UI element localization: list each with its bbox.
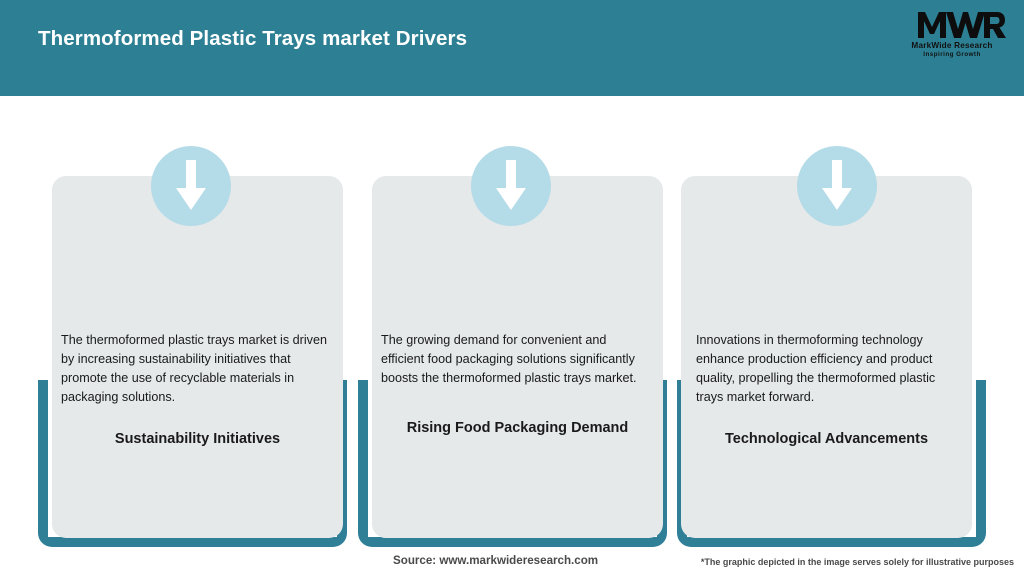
driver-card-body-3: Innovations in thermoforming technology …: [696, 331, 964, 407]
driver-card-body-2: The growing demand for convenient and ef…: [381, 331, 653, 388]
arrow-down-icon-1: [151, 146, 231, 226]
disclaimer-label: *The graphic depicted in the image serve…: [701, 557, 1014, 567]
arrow-down-glyph-2: [493, 160, 529, 212]
driver-card-title-3: Technological Advancements: [681, 428, 972, 450]
slide-canvas: Thermoformed Plastic Trays market Driver…: [0, 0, 1024, 576]
drivers-card-group: Sustainability Initiatives The thermofor…: [0, 0, 1024, 576]
driver-card-title-1: Sustainability Initiatives: [52, 428, 343, 450]
arrow-down-icon-2: [471, 146, 551, 226]
driver-card-body-1: The thermoformed plastic trays market is…: [61, 331, 333, 407]
arrow-down-icon-3: [797, 146, 877, 226]
source-label: Source: www.markwideresearch.com: [393, 554, 598, 567]
arrow-down-glyph-1: [173, 160, 209, 212]
driver-card-2[interactable]: Rising Food Packaging Demand The growing…: [372, 176, 663, 538]
driver-card-3[interactable]: Technological Advancements Innovations i…: [681, 176, 972, 538]
driver-card-1[interactable]: Sustainability Initiatives The thermofor…: [52, 176, 343, 538]
arrow-down-glyph-3: [819, 160, 855, 212]
driver-card-title-2: Rising Food Packaging Demand: [372, 417, 663, 439]
